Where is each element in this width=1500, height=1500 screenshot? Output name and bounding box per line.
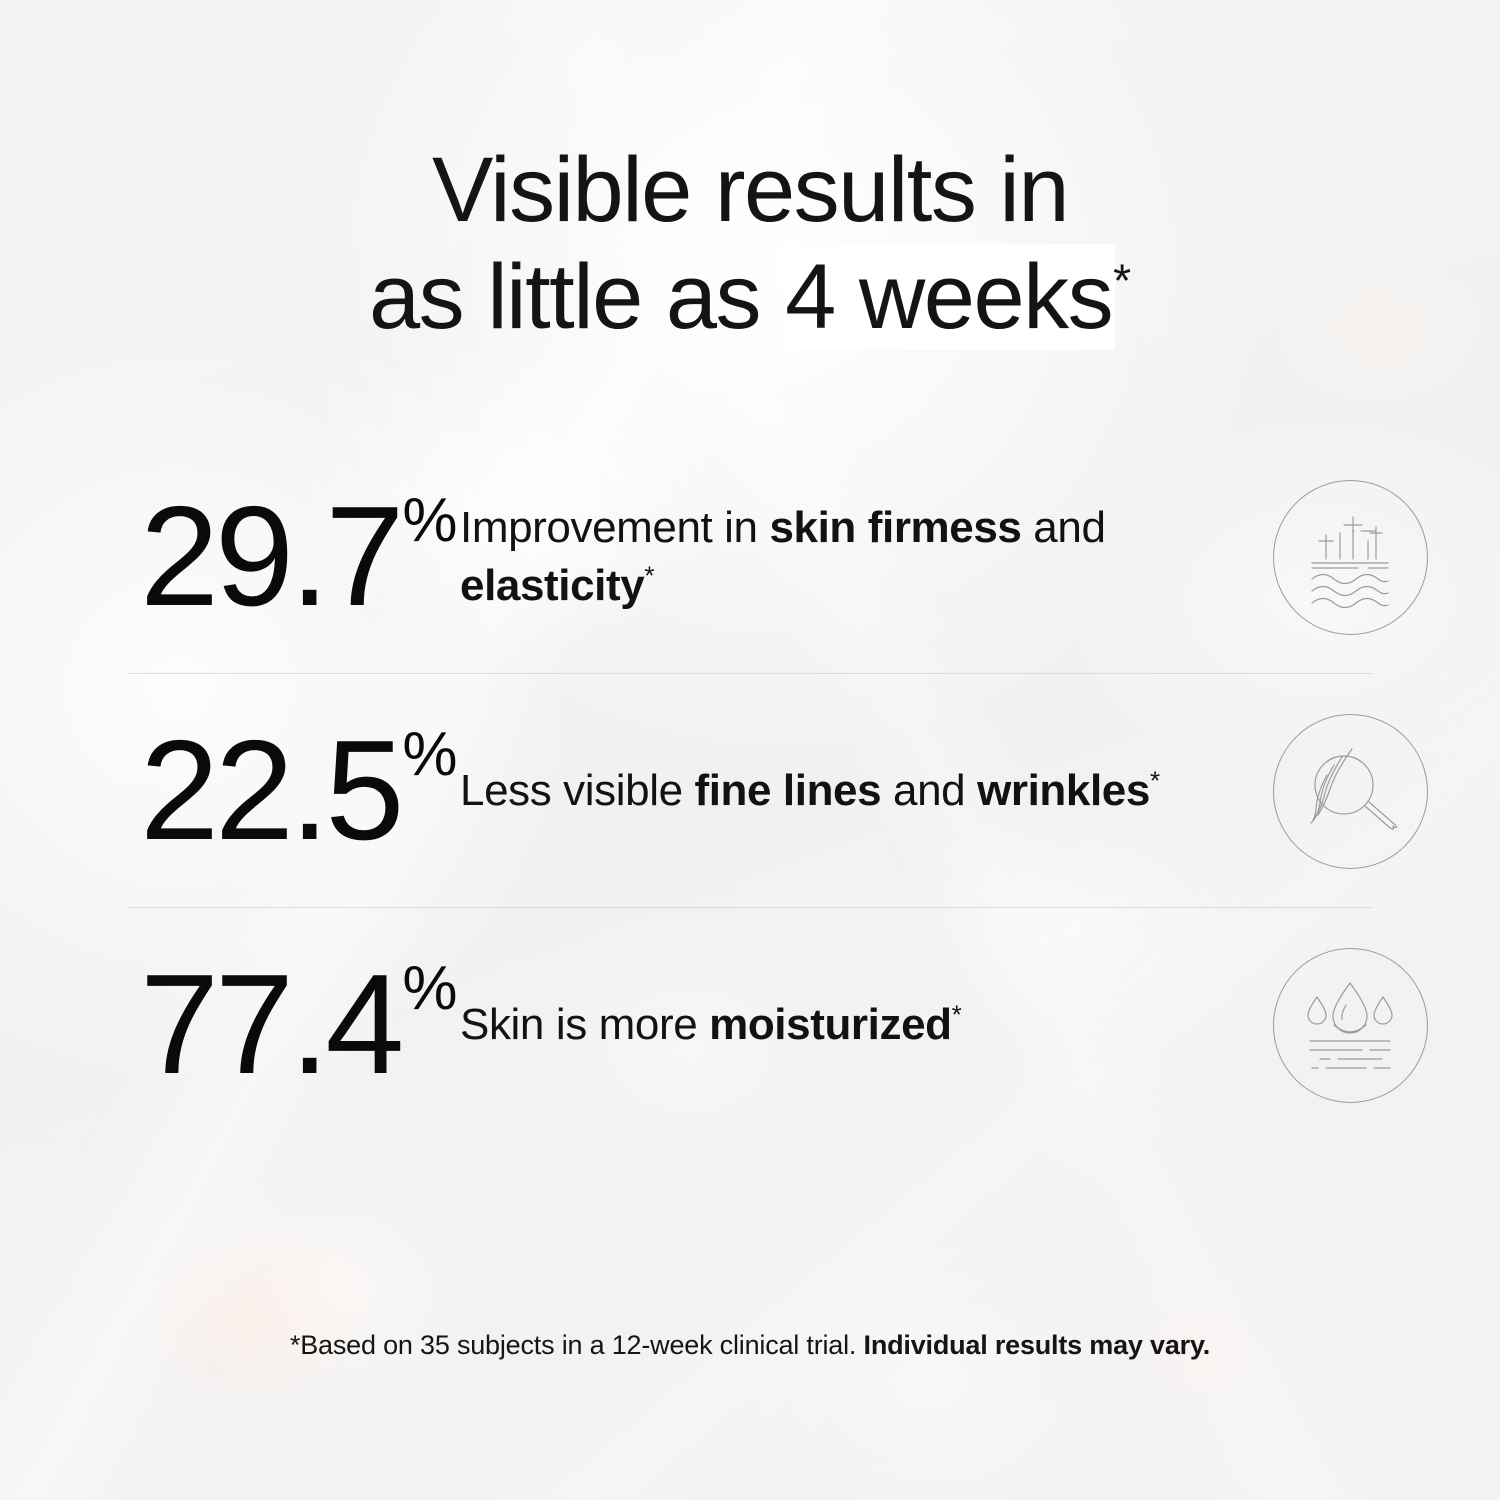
stat-icon-wrap-2 (1200, 714, 1500, 869)
stat-description-1: Improvement in skin firmess and elastici… (455, 499, 1200, 615)
stat-number-2: 22.5 (140, 720, 400, 862)
stat-desc-1-part1: Improvement in (460, 503, 769, 552)
stat-number-1: 29.7 (140, 486, 400, 628)
stat-desc-2-asterisk: * (1150, 765, 1160, 795)
stat-desc-3-asterisk: * (952, 999, 962, 1029)
footnote-bold: Individual results may vary. (864, 1330, 1211, 1360)
stat-desc-2-part2: and (881, 766, 977, 815)
stat-desc-2-bold2: wrinkles (977, 766, 1150, 815)
stat-description-2: Less visible fine lines and wrinkles* (455, 762, 1200, 820)
stat-percent-1: % (402, 490, 455, 552)
footnote-normal: *Based on 35 subjects in a 12-week clini… (290, 1330, 864, 1360)
magnifier-wrinkles-icon (1273, 714, 1428, 869)
stat-desc-1-bold2: elasticity (460, 561, 644, 610)
stat-desc-3-part1: Skin is more (460, 1000, 709, 1049)
stat-desc-1-bold1: skin firmess (769, 503, 1021, 552)
headline-line-2: as little as 4 weeks* (0, 249, 1500, 346)
stats-list: 29.7 % Improvement in skin firmess and e… (0, 440, 1500, 1142)
infographic-canvas: Visible results in as little as 4 weeks*… (0, 0, 1500, 1500)
stat-desc-1-asterisk: * (644, 560, 654, 590)
stat-percent-2: % (402, 724, 455, 786)
stat-desc-3-bold1: moisturized (709, 1000, 952, 1049)
stat-row-fine-lines: 22.5 % Less visible fine lines and wrink… (0, 674, 1500, 908)
page-title: Visible results in as little as 4 weeks* (0, 142, 1500, 345)
water-droplets-hydration-icon (1273, 948, 1428, 1103)
stat-row-skin-firmness: 29.7 % Improvement in skin firmess and e… (0, 440, 1500, 674)
stat-value-2: 22.5 % (0, 720, 455, 862)
headline-asterisk: * (1113, 254, 1131, 306)
headline-highlight-4-weeks: 4 weeks (784, 246, 1113, 348)
footnote-disclaimer: *Based on 35 subjects in a 12-week clini… (0, 1330, 1500, 1361)
stat-icon-wrap-1 (1200, 480, 1500, 635)
stat-row-moisturized: 77.4 % Skin is more moisturized* (0, 908, 1500, 1142)
stat-description-3: Skin is more moisturized* (455, 996, 1200, 1054)
headline-line-1: Visible results in (432, 139, 1068, 241)
stat-desc-2-part1: Less visible (460, 766, 694, 815)
stat-value-3: 77.4 % (0, 954, 455, 1096)
stat-percent-3: % (402, 958, 455, 1020)
headline-line-2-prefix: as little as (369, 246, 784, 348)
stat-icon-wrap-3 (1200, 948, 1500, 1103)
stat-number-3: 77.4 (140, 954, 400, 1096)
stat-desc-2-bold1: fine lines (694, 766, 881, 815)
stat-desc-1-part2: and (1021, 503, 1105, 552)
skin-firmness-waves-icon (1273, 480, 1428, 635)
stat-value-1: 29.7 % (0, 486, 455, 628)
